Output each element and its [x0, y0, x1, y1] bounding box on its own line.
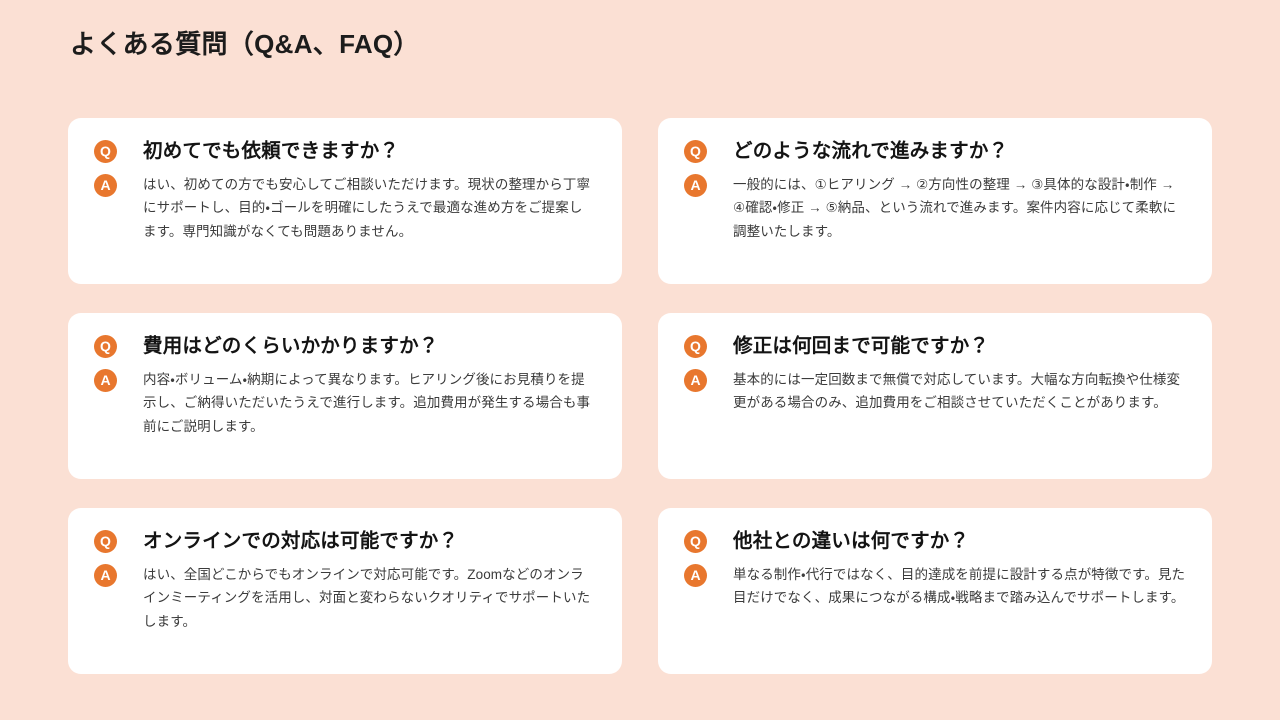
answer-badge-icon: A — [684, 564, 707, 587]
answer-badge-icon: A — [684, 174, 707, 197]
question-badge-icon: Q — [94, 335, 117, 358]
question-badge-icon: Q — [684, 530, 707, 553]
answer-badge-icon: A — [94, 564, 117, 587]
faq-answer-text: はい、初めての方でも安心してご相談いただけます。現状の整理から丁寧にサポートし、… — [143, 173, 596, 243]
answer-badge-icon: A — [94, 174, 117, 197]
faq-slide: よくある質問（Q&A、FAQ） Q 初めてでも依頼できますか？ A はい、初めて… — [0, 0, 1280, 720]
question-badge-icon: Q — [94, 530, 117, 553]
faq-answer-text: 内容・ボリューム・納期によって異なります。ヒアリング後にお見積りを提示し、ご納得… — [143, 368, 596, 438]
faq-question-text: 費用はどのくらいかかりますか？ — [143, 333, 596, 359]
question-badge-icon: Q — [684, 140, 707, 163]
faq-answer-row: A 基本的には一定回数まで無償で対応しています。大幅な方向転換や仕様変更がある場… — [684, 368, 1186, 414]
page-title: よくある質問（Q&A、FAQ） — [70, 28, 420, 62]
question-badge-icon: Q — [94, 140, 117, 163]
faq-answer-row: A はい、初めての方でも安心してご相談いただけます。現状の整理から丁寧にサポート… — [94, 173, 596, 243]
faq-card[interactable]: Q 初めてでも依頼できますか？ A はい、初めての方でも安心してご相談いただけま… — [68, 118, 622, 284]
faq-answer-text: 単なる制作・代行ではなく、目的達成を前提に設計する点が特徴です。見た目だけでなく… — [733, 563, 1186, 609]
faq-answer-row: A 内容・ボリューム・納期によって異なります。ヒアリング後にお見積りを提示し、ご… — [94, 368, 596, 438]
faq-question-text: 他社との違いは何ですか？ — [733, 528, 1186, 554]
faq-answer-text: 基本的には一定回数まで無償で対応しています。大幅な方向転換や仕様変更がある場合の… — [733, 368, 1186, 414]
faq-question-row: Q どのような流れで進みますか？ — [684, 138, 1186, 164]
faq-answer-text: はい、全国どこからでもオンラインで対応可能です。Zoomなどのオンラインミーティ… — [143, 563, 596, 633]
faq-question-row: Q 修正は何回まで可能ですか？ — [684, 333, 1186, 359]
faq-answer-text: 一般的には、①ヒアリング → ②方向性の整理 → ③具体的な設計・制作 → ④確… — [733, 173, 1186, 243]
faq-answer-row: A はい、全国どこからでもオンラインで対応可能です。Zoomなどのオンラインミー… — [94, 563, 596, 633]
faq-card[interactable]: Q 修正は何回まで可能ですか？ A 基本的には一定回数まで無償で対応しています。… — [658, 313, 1212, 479]
answer-badge-icon: A — [94, 369, 117, 392]
faq-question-text: 初めてでも依頼できますか？ — [143, 138, 596, 164]
faq-card[interactable]: Q オンラインでの対応は可能ですか？ A はい、全国どこからでもオンラインで対応… — [68, 508, 622, 674]
question-badge-icon: Q — [684, 335, 707, 358]
faq-question-text: どのような流れで進みますか？ — [733, 138, 1186, 164]
faq-card[interactable]: Q 費用はどのくらいかかりますか？ A 内容・ボリューム・納期によって異なります… — [68, 313, 622, 479]
faq-question-row: Q 他社との違いは何ですか？ — [684, 528, 1186, 554]
faq-question-row: Q 初めてでも依頼できますか？ — [94, 138, 596, 164]
answer-badge-icon: A — [684, 369, 707, 392]
faq-question-text: 修正は何回まで可能ですか？ — [733, 333, 1186, 359]
faq-question-text: オンラインでの対応は可能ですか？ — [143, 528, 596, 554]
faq-grid: Q 初めてでも依頼できますか？ A はい、初めての方でも安心してご相談いただけま… — [68, 118, 1212, 674]
faq-card[interactable]: Q 他社との違いは何ですか？ A 単なる制作・代行ではなく、目的達成を前提に設計… — [658, 508, 1212, 674]
faq-answer-row: A 一般的には、①ヒアリング → ②方向性の整理 → ③具体的な設計・制作 → … — [684, 173, 1186, 243]
faq-card[interactable]: Q どのような流れで進みますか？ A 一般的には、①ヒアリング → ②方向性の整… — [658, 118, 1212, 284]
faq-answer-row: A 単なる制作・代行ではなく、目的達成を前提に設計する点が特徴です。見た目だけで… — [684, 563, 1186, 609]
faq-question-row: Q オンラインでの対応は可能ですか？ — [94, 528, 596, 554]
faq-question-row: Q 費用はどのくらいかかりますか？ — [94, 333, 596, 359]
